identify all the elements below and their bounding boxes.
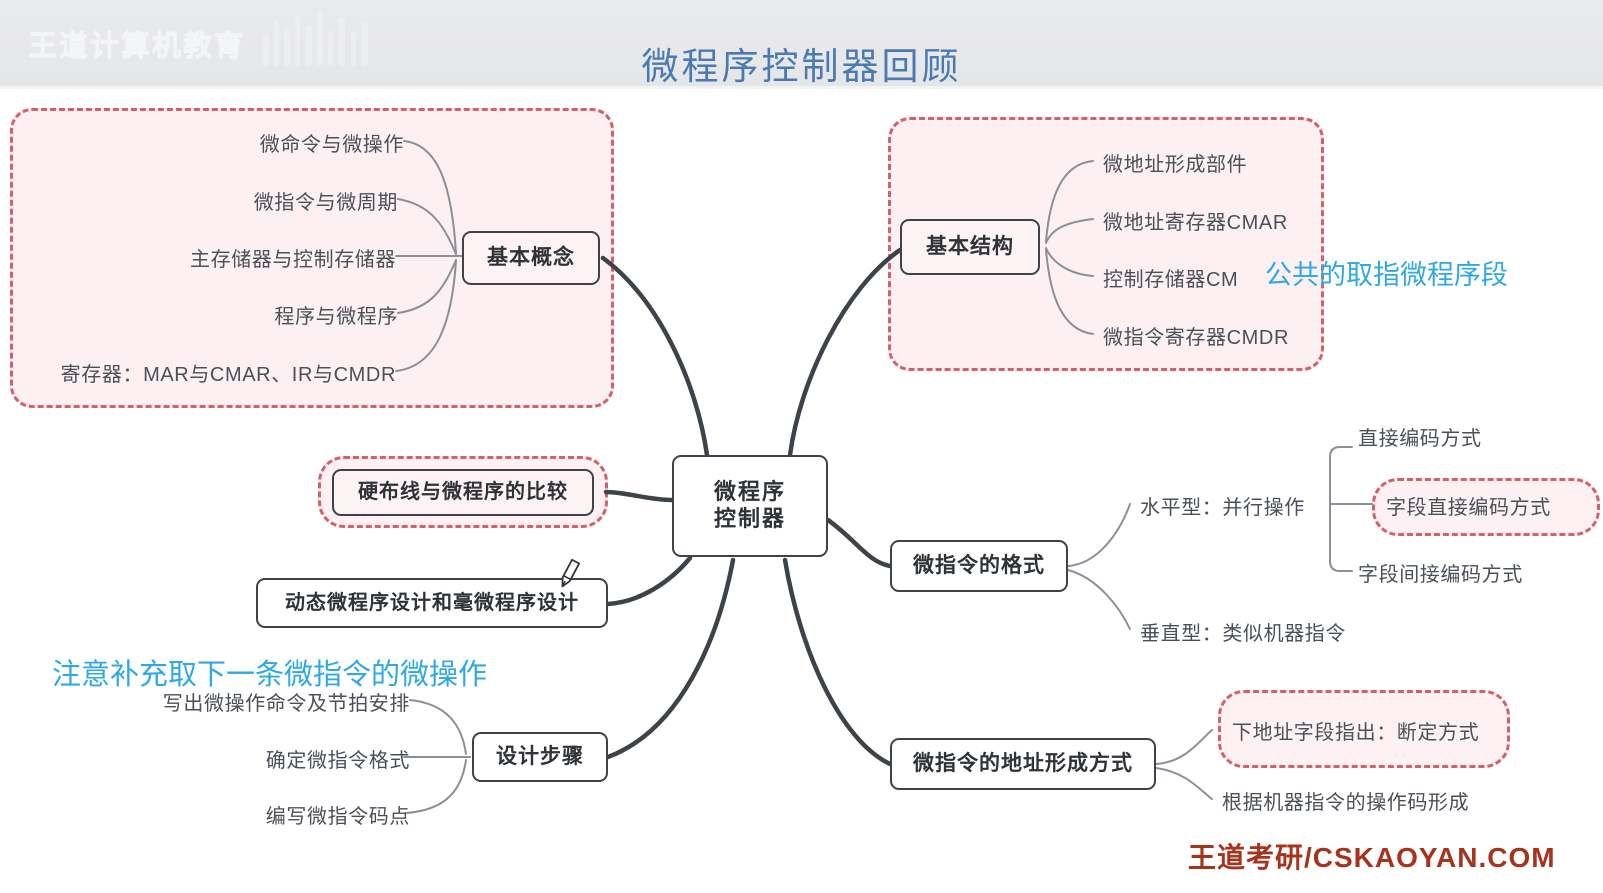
node-compare-label: 硬布线与微程序的比较 — [358, 480, 568, 504]
link-root-dynamic — [608, 558, 690, 604]
link-addr-child-2 — [1156, 768, 1212, 799]
node-compare[interactable]: 硬布线与微程序的比较 — [332, 469, 594, 516]
link-ds-child-1 — [410, 700, 466, 754]
leaf-ds-3: 编写微指令码点 — [150, 800, 410, 829]
link-bs-child-1 — [1046, 161, 1093, 241]
annotation-fetch-microprogram: 公共的取指微程序段 — [1265, 253, 1508, 292]
link-bs-child-3 — [1046, 248, 1093, 276]
node-basic-structure-label: 基本结构 — [926, 234, 1014, 260]
link-root-address — [785, 560, 890, 764]
mindmap-canvas: 王道计算机教育 微程序控制器回顾 — [0, 0, 1603, 893]
leaf-bc-2: 微指令与微周期 — [98, 186, 398, 215]
annotation-next-microinstruction: 注意补充取下一条微指令的微操作 — [52, 651, 487, 693]
node-root[interactable]: 微程序控制器 — [672, 455, 828, 557]
site-watermark: 王道考研/CSKAOYAN.COM — [1188, 836, 1556, 876]
node-microinstruction-format-label: 微指令的格式 — [913, 553, 1045, 579]
leaf-bc-4: 程序与微程序 — [98, 300, 398, 329]
leaf-bs-4: 微指令寄存器CMDR — [1103, 321, 1289, 350]
node-address-formation[interactable]: 微指令的地址形成方式 — [890, 738, 1156, 790]
link-root-design-steps — [608, 560, 733, 757]
node-dynamic-design-label: 动态微程序设计和毫微程序设计 — [285, 591, 579, 615]
node-address-formation-label: 微指令的地址形成方式 — [913, 751, 1133, 777]
leaf-addr-next-field: 下地址字段指出：断定方式 — [1232, 716, 1479, 745]
link-ds-child-3 — [406, 760, 466, 813]
link-addr-child-1 — [1156, 730, 1212, 764]
link-root-basic-concept — [603, 258, 707, 455]
link-bc-child-4 — [398, 260, 456, 313]
node-microinstruction-format[interactable]: 微指令的格式 — [890, 540, 1068, 592]
pen-icon[interactable] — [552, 556, 586, 592]
leaf-fmt-vertical: 垂直型：类似机器指令 — [1140, 617, 1346, 646]
leaf-fmt-horizontal: 水平型：并行操作 — [1140, 491, 1305, 520]
node-basic-concept[interactable]: 基本概念 — [462, 231, 600, 285]
leaf-bs-2: 微地址寄存器CMAR — [1103, 206, 1288, 235]
leaf-bs-3: 控制存储器CM — [1103, 263, 1238, 292]
link-bs-child-2 — [1046, 219, 1093, 243]
leaf-bc-3: 主存储器与控制存储器 — [76, 243, 396, 272]
link-root-compare — [606, 492, 672, 500]
link-bc-child-2 — [398, 199, 456, 254]
leaf-ds-2: 确定微指令格式 — [150, 744, 410, 773]
leaf-encoding-field-direct: 字段直接编码方式 — [1386, 491, 1551, 520]
node-basic-concept-label: 基本概念 — [487, 245, 575, 271]
leaf-bc-1: 微命令与微操作 — [104, 128, 404, 157]
link-root-format — [828, 520, 890, 566]
node-basic-structure[interactable]: 基本结构 — [900, 219, 1040, 275]
node-design-steps-label: 设计步骤 — [496, 744, 584, 770]
leaf-encoding-field-indirect: 字段间接编码方式 — [1358, 558, 1523, 587]
leaf-addr-from-opcode: 根据机器指令的操作码形成 — [1222, 786, 1469, 815]
link-root-basic-structure — [790, 250, 900, 455]
leaf-encoding-direct: 直接编码方式 — [1358, 422, 1482, 451]
node-root-label: 微程序控制器 — [714, 479, 786, 533]
link-fmt-horizontal — [1068, 504, 1130, 566]
leaf-bs-1: 微地址形成部件 — [1103, 148, 1247, 177]
link-fmt-vertical — [1068, 570, 1130, 629]
node-design-steps[interactable]: 设计步骤 — [472, 732, 608, 782]
link-bs-child-4 — [1046, 250, 1093, 334]
leaf-bc-5: 寄存器：MAR与CMAR、IR与CMDR — [26, 358, 396, 387]
link-horiz-bracket — [1330, 447, 1352, 571]
